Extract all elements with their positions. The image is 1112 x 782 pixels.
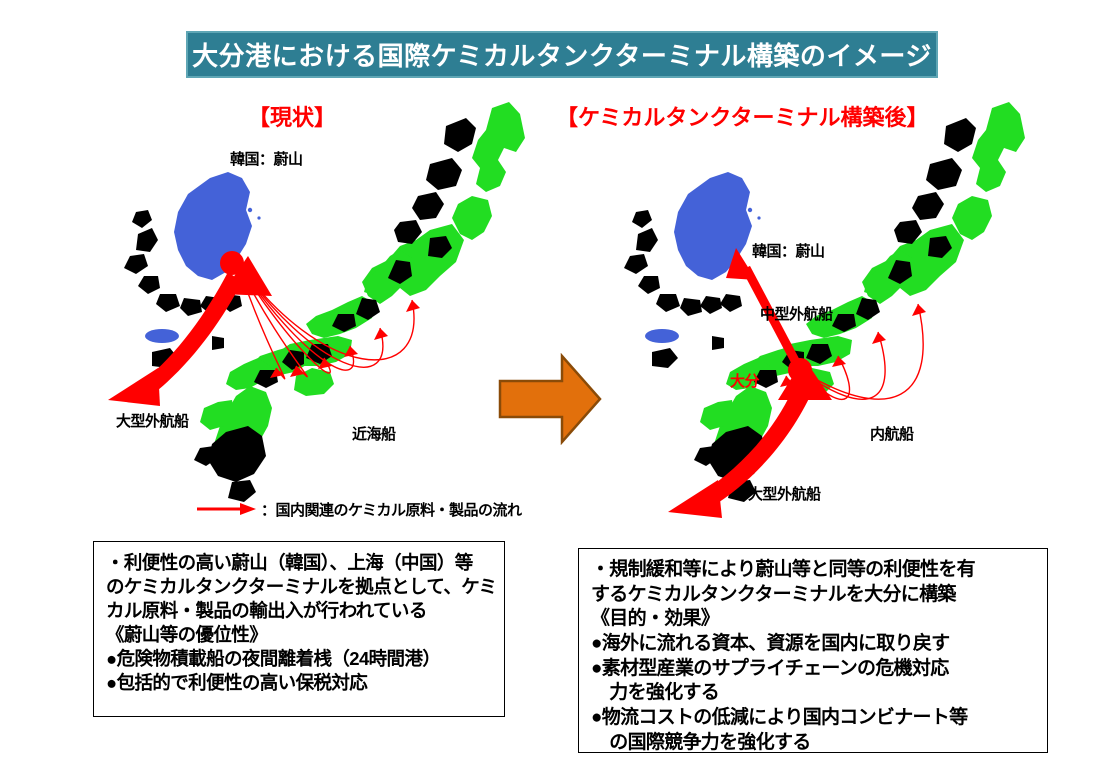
box-right-line-1: するケミカルタンクターミナルを大分に構築	[591, 583, 1035, 608]
legend-text: ：国内関連のケミカル原料・製品の流れ	[261, 499, 522, 520]
box-right-line-0: ・規制緩和等により蔚山等と同等の利便性を有	[591, 558, 1035, 583]
box-left-line-3: 《蔚山等の優位性》	[106, 623, 492, 647]
label-domestic-vessel: 内航船	[870, 423, 914, 444]
box-left-line-1: のケミカルタンクターミナルを拠点として、ケミ	[106, 575, 492, 599]
box-right-line-2: 《目的・効果》	[591, 607, 1035, 632]
japan-landmass	[700, 102, 1025, 468]
legend: ：国内関連のケミカル原料・製品の流れ	[196, 498, 522, 520]
right-arrow-icon	[498, 353, 602, 445]
label-oita: 大分	[730, 370, 759, 391]
coastline-detail	[124, 118, 476, 502]
box-left-line-0: ・利便性の高い蔚山（韓国）、上海（中国）等	[106, 551, 492, 575]
label-coastal-vessel: 近海船	[352, 423, 396, 444]
map-left-graphic	[100, 100, 530, 520]
box-right-line-3: ●海外に流れる資本、資源を国内に取り戻す	[591, 632, 1035, 657]
korea-landmass	[645, 172, 761, 343]
after-construction-description-box: ・規制緩和等により蔚山等と同等の利便性を有 するケミカルタンクターミナルを大分に…	[578, 548, 1048, 753]
label-korea-ulsan: 韓国：蔚山	[230, 148, 303, 169]
label-large-ocean-vessel: 大型外航船	[116, 410, 189, 431]
box-right-line-5: 力を強化する	[591, 681, 1035, 706]
red-arrow-icon	[196, 501, 258, 517]
slide-title-bar: 大分港における国際ケミカルタンクターミナル構築のイメージ	[186, 31, 938, 78]
label-korea-ulsan: 韓国：蔚山	[752, 240, 825, 261]
page-title: 大分港における国際ケミカルタンクターミナル構築のイメージ	[192, 36, 932, 73]
map-after-construction: 韓国：蔚山 中型外航船 大分 内航船 大型外航船	[600, 100, 1030, 520]
box-right-line-7: の国際競争力を強化する	[591, 731, 1035, 756]
box-left-line-2: カル原料・製品の輸出入が行われている	[106, 599, 492, 623]
oita-hub-marker	[788, 358, 812, 382]
slide-canvas: 大分港における国際ケミカルタンクターミナル構築のイメージ 【現状】 【ケミカルタ…	[0, 0, 1112, 782]
box-left-line-5: ●包括的で利便性の高い保税対応	[106, 671, 492, 695]
box-right-line-4: ●素材型産業のサプライチェーンの危機対応	[591, 657, 1035, 682]
label-large-ocean-vessel: 大型外航船	[748, 483, 821, 504]
box-left-line-4: ●危険物積載船の夜間離着桟（24時間港）	[106, 647, 492, 671]
transition-arrow	[498, 353, 602, 445]
label-medium-ocean-vessel: 中型外航船	[760, 303, 833, 324]
ulsan-hub-marker	[220, 251, 244, 275]
map-current-state: 韓国：蔚山 大型外航船 近海船	[100, 100, 530, 520]
box-right-line-6: ●物流コストの低減により国内コンビナート等	[591, 706, 1035, 731]
current-state-description-box: ・利便性の高い蔚山（韓国）、上海（中国）等 のケミカルタンクターミナルを拠点とし…	[93, 541, 505, 717]
